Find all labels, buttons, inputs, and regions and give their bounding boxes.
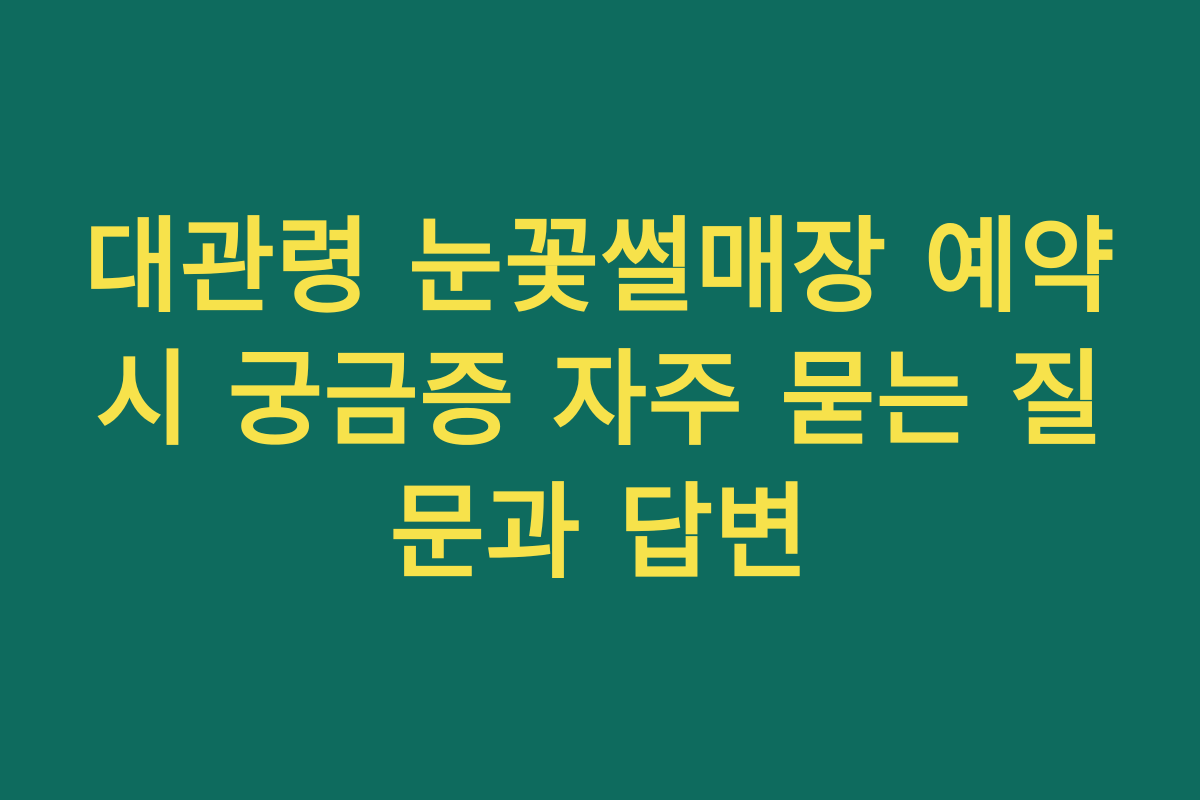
title-line-1: 대관령 눈꽃썰매장 예약 (80, 201, 1120, 334)
title-line-3: 문과 답변 (80, 467, 1120, 600)
page-title: 대관령 눈꽃썰매장 예약 시 궁금증 자주 묻는 질 문과 답변 (70, 201, 1130, 600)
banner-container: 대관령 눈꽃썰매장 예약 시 궁금증 자주 묻는 질 문과 답변 (0, 0, 1200, 800)
title-line-2: 시 궁금증 자주 묻는 질 (80, 334, 1120, 467)
